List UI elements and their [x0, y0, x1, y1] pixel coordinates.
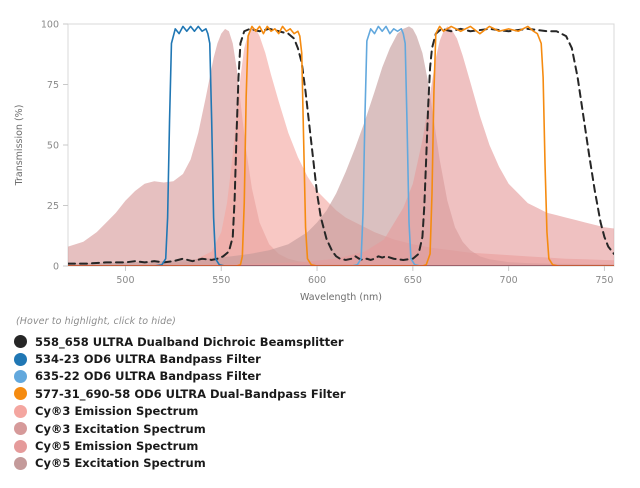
legend-item-bp534[interactable]: 534-23 OD6 ULTRA Bandpass Filter — [14, 350, 626, 367]
x-axis-title: Wavelength (nm) — [300, 292, 382, 303]
legend-swatch-cy3ex — [14, 422, 27, 435]
y-tick-label-50: 50 — [47, 141, 59, 152]
legend-item-cy3ex[interactable]: Cy®3 Excitation Spectrum — [14, 420, 626, 437]
chart-legend: (Hover to highlight, click to hide) 558_… — [14, 316, 626, 472]
y-axis-title: Transmission (%) — [14, 105, 25, 187]
y-tick-label-100: 100 — [41, 20, 59, 31]
legend-label-bp534: 534-23 OD6 ULTRA Bandpass Filter — [35, 352, 261, 366]
legend-swatch-dual577690 — [14, 387, 27, 400]
legend-label-cy5ex: Cy®5 Excitation Spectrum — [35, 456, 206, 470]
spectra-viewer: 0255075100500550600650700750Wavelength (… — [0, 0, 640, 488]
y-tick-label-0: 0 — [53, 262, 59, 273]
chart-canvas: 0255075100500550600650700750Wavelength (… — [0, 0, 640, 310]
legend-label-dichroic: 558_658 ULTRA Dualband Dichroic Beamspli… — [35, 335, 344, 349]
legend-item-bp635[interactable]: 635-22 OD6 ULTRA Bandpass Filter — [14, 368, 626, 385]
legend-item-cy5ex[interactable]: Cy®5 Excitation Spectrum — [14, 455, 626, 472]
legend-label-cy3em: Cy®3 Emission Spectrum — [35, 404, 198, 418]
x-tick-label-500: 500 — [116, 275, 134, 286]
legend-label-cy5em: Cy®5 Emission Spectrum — [35, 439, 198, 453]
legend-label-dual577690: 577-31_690-58 OD6 ULTRA Dual-Bandpass Fi… — [35, 387, 346, 401]
legend-item-cy5em[interactable]: Cy®5 Emission Spectrum — [14, 437, 626, 454]
legend-hint-text: (Hover to highlight, click to hide) — [16, 316, 626, 327]
legend-swatch-cy5em — [14, 440, 27, 453]
y-tick-label-25: 25 — [47, 201, 59, 212]
x-tick-label-750: 750 — [595, 275, 613, 286]
x-tick-label-550: 550 — [212, 275, 230, 286]
x-tick-label-700: 700 — [500, 275, 518, 286]
legend-swatch-cy5ex — [14, 457, 27, 470]
x-tick-label-650: 650 — [404, 275, 422, 286]
legend-item-dichroic[interactable]: 558_658 ULTRA Dualband Dichroic Beamspli… — [14, 333, 626, 350]
y-tick-label-75: 75 — [47, 80, 59, 91]
legend-swatch-dichroic — [14, 335, 27, 348]
legend-swatch-bp534 — [14, 353, 27, 366]
legend-list: 558_658 ULTRA Dualband Dichroic Beamspli… — [14, 333, 626, 472]
legend-swatch-bp635 — [14, 370, 27, 383]
legend-label-bp635: 635-22 OD6 ULTRA Bandpass Filter — [35, 369, 261, 383]
legend-item-dual577690[interactable]: 577-31_690-58 OD6 ULTRA Dual-Bandpass Fi… — [14, 385, 626, 402]
transmission-chart: 0255075100500550600650700750Wavelength (… — [0, 0, 640, 310]
x-tick-label-600: 600 — [308, 275, 326, 286]
legend-swatch-cy3em — [14, 405, 27, 418]
legend-item-cy3em[interactable]: Cy®3 Emission Spectrum — [14, 403, 626, 420]
legend-label-cy3ex: Cy®3 Excitation Spectrum — [35, 422, 206, 436]
